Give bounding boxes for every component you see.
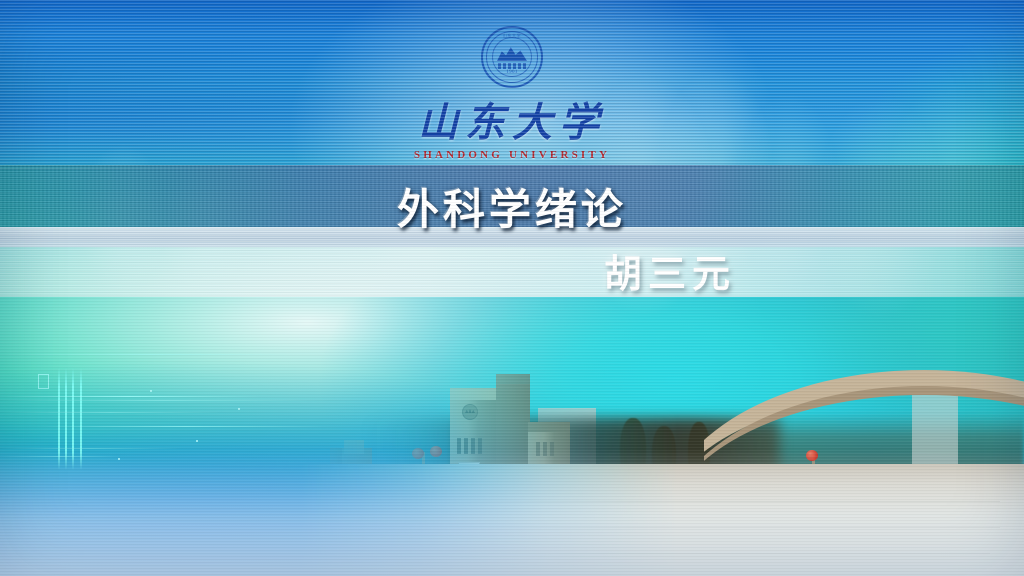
vignette-overlay <box>0 0 1024 576</box>
title-slide: 外科学绪论 胡三元 山东大学 1901 山东大学 SHANDONG UNIVER… <box>0 0 1024 576</box>
